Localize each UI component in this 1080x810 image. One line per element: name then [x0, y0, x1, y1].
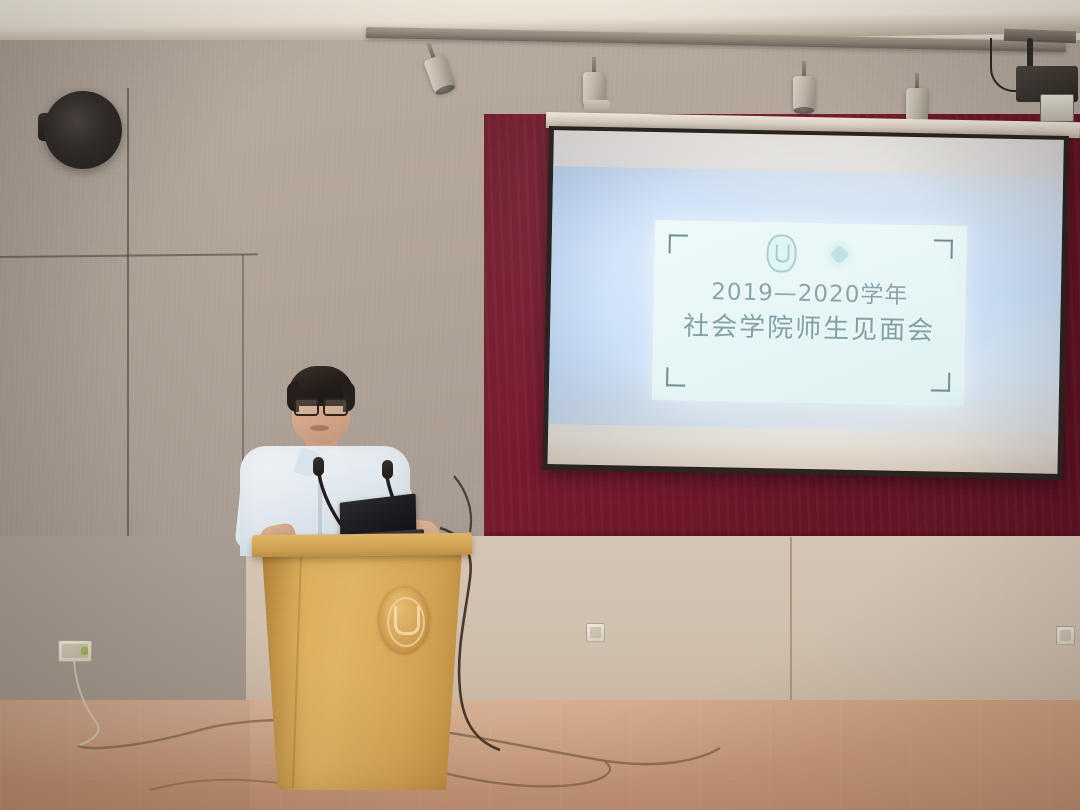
projection-screen: 2019—2020学年 社会学院师生见面会 [542, 126, 1069, 480]
power-outlet-right-b [1056, 626, 1075, 645]
university-emblem-icon [378, 586, 430, 654]
spotlight-lens [794, 107, 814, 114]
glasses-bridge [316, 403, 326, 405]
power-outlet-left [58, 640, 92, 662]
outlet-indicator [81, 647, 88, 655]
emblem-letter [394, 606, 420, 635]
power-outlet-right-a [586, 623, 605, 642]
presenter-mouth [310, 425, 329, 431]
floor-reflection [0, 700, 1080, 810]
glasses-lens-right [323, 398, 348, 416]
wall-speaker-icon [44, 91, 122, 169]
lower-wall-left [0, 536, 246, 716]
lower-wall-seam [790, 537, 792, 715]
glasses-icon [294, 398, 348, 413]
projector-lens [1040, 94, 1074, 122]
screen-vignette [548, 130, 1064, 474]
outlet-face [1060, 630, 1071, 641]
lecture-hall-photo: 2019—2020学年 社会学院师生见面会 [0, 0, 1080, 810]
glasses-lens-left [294, 398, 319, 416]
podium-top-surface [252, 533, 472, 557]
outlet-face [590, 627, 601, 638]
